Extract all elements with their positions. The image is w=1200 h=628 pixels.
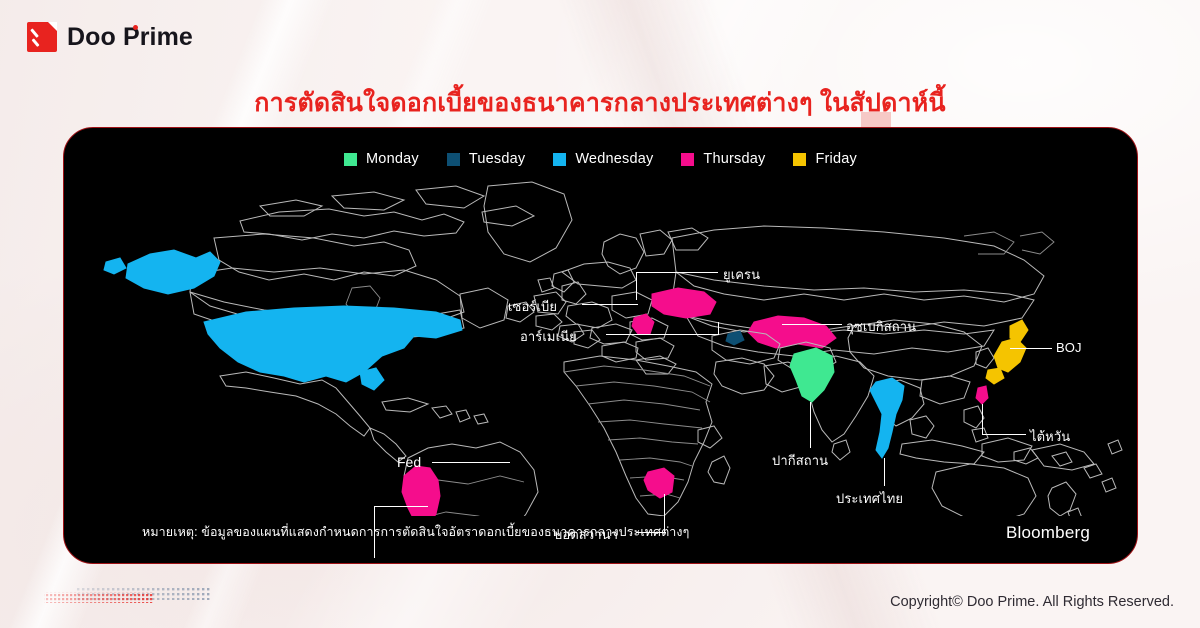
leader-line-thailand bbox=[884, 458, 885, 486]
legend-label-friday: Friday bbox=[815, 151, 857, 167]
poster-canvas: Doo Prime การตัดสินใจดอกเบี้ยของธนาคารกล… bbox=[0, 0, 1200, 628]
map-region-uzbekistan bbox=[748, 316, 836, 348]
map-region-kyushu bbox=[986, 368, 1004, 384]
map-label-serbia: เซอร์เบีย bbox=[508, 296, 557, 317]
leader-line-serbia bbox=[582, 304, 638, 305]
doo-prime-logo-icon bbox=[27, 22, 57, 52]
map-region-pakistan bbox=[790, 348, 834, 402]
legend-swatch-wednesday bbox=[553, 153, 566, 166]
map-label-boj: BOJ bbox=[1056, 340, 1082, 355]
leader-line-taiwan-drop bbox=[982, 404, 983, 434]
legend-item-monday: Monday bbox=[344, 151, 419, 167]
leader-line-fed bbox=[432, 462, 510, 463]
map-region-united-states bbox=[204, 306, 462, 382]
source-attribution: Bloomberg bbox=[1006, 523, 1090, 543]
map-label-pakistan: ปากีสถาน bbox=[772, 450, 828, 471]
map-region-honshu bbox=[994, 338, 1026, 372]
legend-item-wednesday: Wednesday bbox=[553, 151, 653, 167]
leader-line-armenia bbox=[606, 334, 718, 335]
map-region-ukraine bbox=[652, 288, 716, 318]
legend-swatch-tuesday bbox=[447, 153, 460, 166]
legend-label-monday: Monday bbox=[366, 151, 419, 167]
map-label-ukraine: ยูเครน bbox=[723, 264, 760, 285]
map-footnote: หมายเหตุ: ข้อมูลของแผนที่แสดงกำหนดการการ… bbox=[142, 522, 689, 542]
page-title: การตัดสินใจดอกเบี้ยของธนาคารกลางประเทศต่… bbox=[0, 83, 1200, 123]
map-region-aleutians bbox=[104, 258, 126, 274]
leader-line-ukraine-drop bbox=[636, 272, 637, 300]
map-region-taiwan bbox=[976, 386, 988, 404]
legend-swatch-monday bbox=[344, 153, 357, 166]
leader-line-armenia-rise bbox=[718, 322, 719, 335]
map-label-thailand: ประเทศไทย bbox=[836, 488, 903, 509]
legend-item-tuesday: Tuesday bbox=[447, 151, 525, 167]
copyright-text: Copyright© Doo Prime. All Rights Reserve… bbox=[890, 594, 1174, 610]
leader-line-ukraine bbox=[636, 272, 718, 273]
map-region-peru bbox=[402, 466, 440, 516]
map-label-uzbekistan: อุซเบกิสถาน bbox=[846, 316, 916, 337]
leader-line-boj bbox=[1010, 348, 1052, 349]
legend-label-tuesday: Tuesday bbox=[469, 151, 525, 167]
legend-item-friday: Friday bbox=[793, 151, 857, 167]
legend-swatch-friday bbox=[793, 153, 806, 166]
brand-header: Doo Prime bbox=[27, 22, 193, 52]
map-label-armenia: อาร์เมเนีย bbox=[520, 326, 577, 347]
map-region-armenia bbox=[726, 331, 744, 345]
legend-label-wednesday: Wednesday bbox=[575, 151, 653, 167]
legend-item-thursday: Thursday bbox=[681, 151, 765, 167]
brand-name: Doo Prime bbox=[67, 23, 193, 52]
leader-line-pakistan bbox=[810, 402, 811, 448]
infographic-card: Monday Tuesday Wednesday Thursday Friday bbox=[63, 127, 1138, 564]
map-region-botswana bbox=[644, 468, 674, 498]
map-region-florida bbox=[360, 368, 384, 390]
world-map: Fed ยูเครน เซอร์เบีย อาร์เมเนีย อุซเบกิส… bbox=[64, 176, 1138, 516]
leader-line-uzbekistan bbox=[782, 324, 842, 325]
map-region-serbia bbox=[632, 314, 654, 334]
map-label-fed: Fed bbox=[397, 454, 421, 470]
map-region-alaska bbox=[126, 250, 220, 294]
leader-line-taiwan bbox=[982, 434, 1026, 435]
logo-accent-dot bbox=[133, 25, 138, 30]
legend-label-thursday: Thursday bbox=[703, 151, 765, 167]
legend-swatch-thursday bbox=[681, 153, 694, 166]
leader-line-peru-top bbox=[374, 506, 428, 507]
world-map-svg bbox=[64, 176, 1138, 516]
legend: Monday Tuesday Wednesday Thursday Friday bbox=[64, 151, 1137, 167]
map-region-thailand bbox=[870, 378, 904, 458]
halftone-decoration bbox=[22, 578, 252, 608]
map-label-taiwan: ไต้หวัน bbox=[1030, 426, 1070, 447]
map-label-peru: เปรู bbox=[360, 560, 380, 564]
